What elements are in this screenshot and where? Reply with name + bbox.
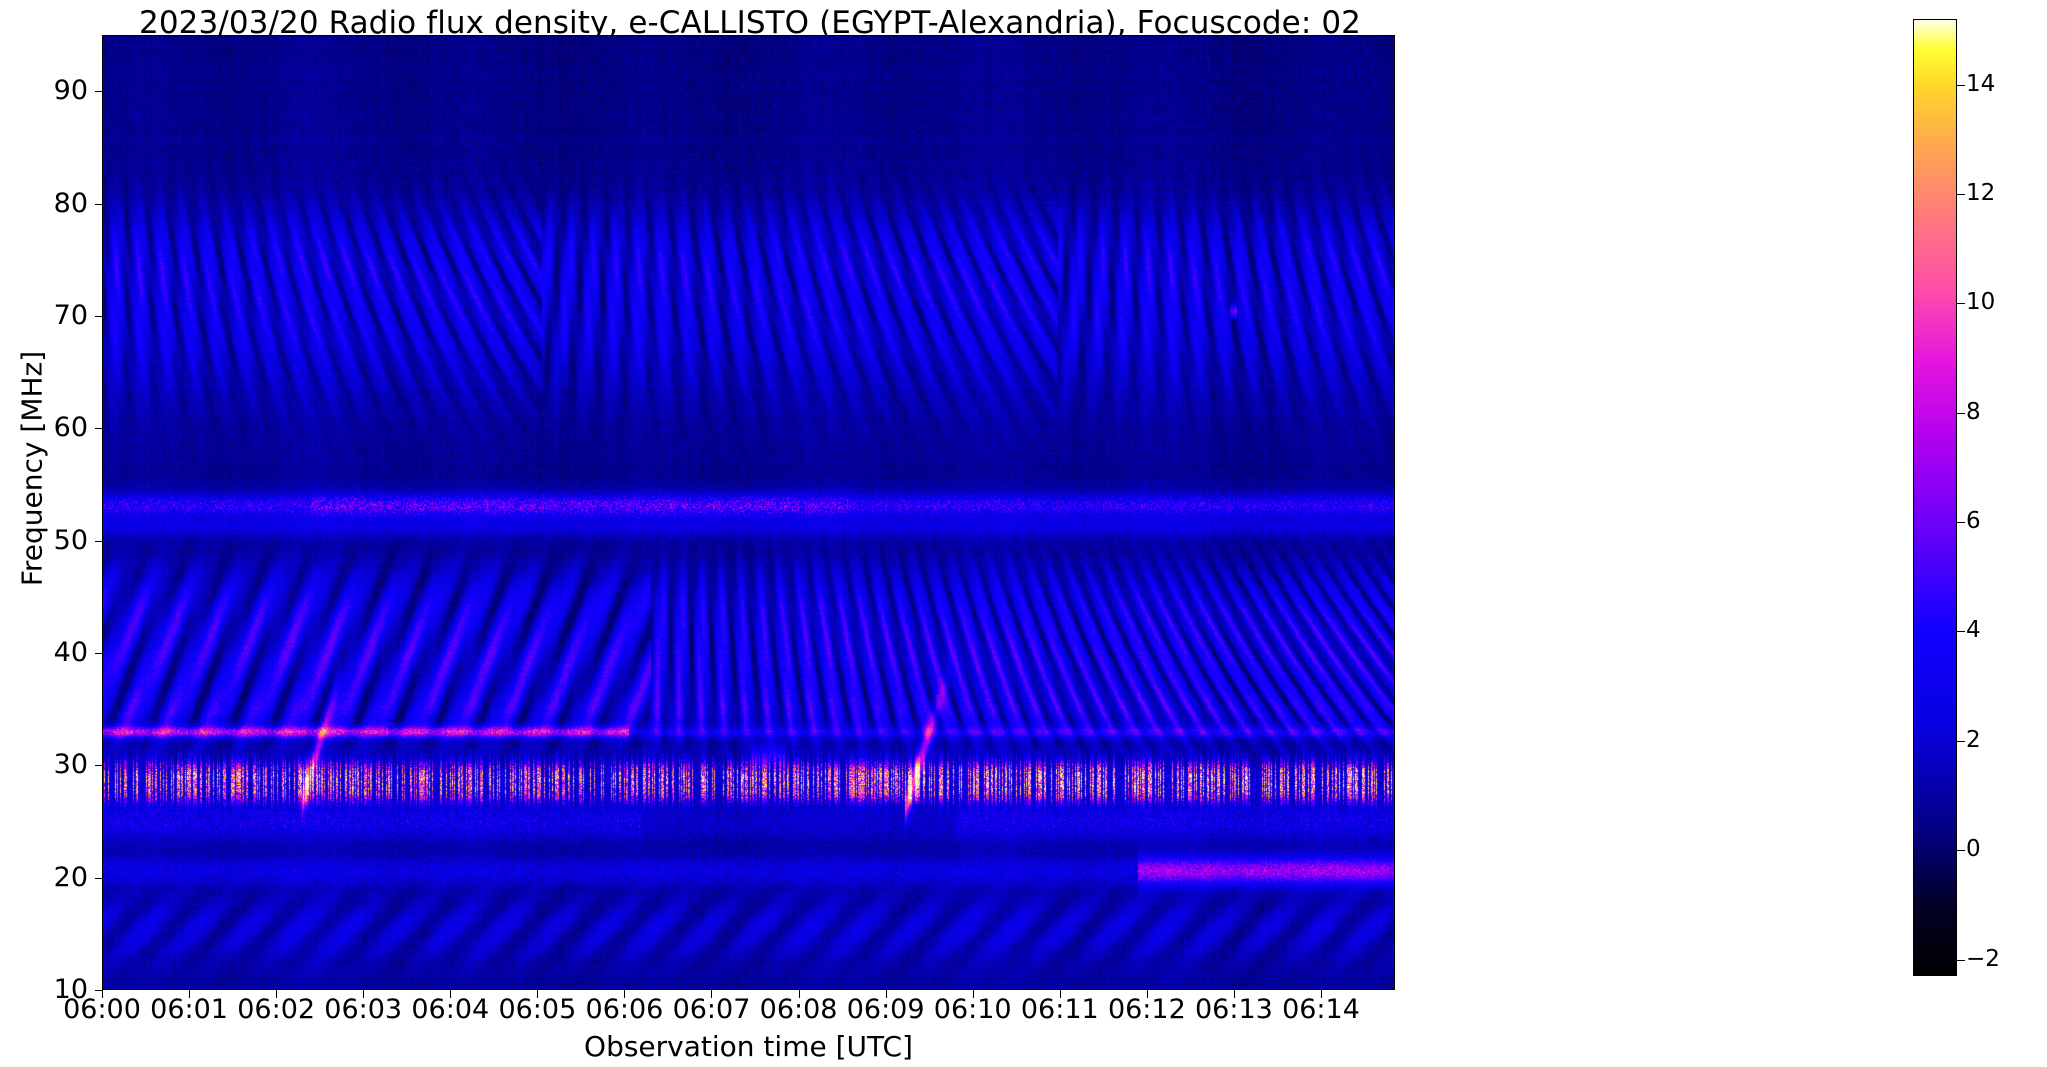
- colorbar-tickmark: [1957, 85, 1965, 86]
- y-axis-tick-40: 40: [54, 639, 88, 666]
- y-axis-tick-20: 20: [54, 864, 88, 891]
- y-axis-tick-90: 90: [54, 77, 88, 104]
- colorbar-tick-8: 8: [1966, 401, 1981, 424]
- x-axis-tick-0610: 06:10: [934, 996, 1012, 1023]
- colorbar-tickmark: [1957, 413, 1965, 414]
- colorbar-tick-4: 4: [1966, 619, 1981, 642]
- y-axis-tick-70: 70: [54, 302, 88, 329]
- colorbar-tickmark: [1957, 850, 1965, 851]
- colorbar-tick-0: 0: [1966, 838, 1981, 861]
- y-axis-tick-30: 30: [54, 751, 88, 778]
- x-axis-tickmark: [1147, 990, 1148, 998]
- y-axis-tickmark: [95, 990, 102, 991]
- y-axis-tickmark: [95, 316, 102, 317]
- x-axis-tick-0604: 06:04: [411, 996, 489, 1023]
- colorbar-tickmark: [1957, 631, 1965, 632]
- colorbar-tick-14: 14: [1966, 73, 1995, 96]
- x-axis-tickmark: [1234, 990, 1235, 998]
- x-axis-tickmark: [189, 990, 190, 998]
- colorbar-tick-10: 10: [1966, 291, 1995, 314]
- x-axis-tick-0605: 06:05: [498, 996, 576, 1023]
- x-axis-tick-0603: 06:03: [324, 996, 402, 1023]
- colorbar-tickmark: [1957, 522, 1965, 523]
- x-axis-tickmark: [711, 990, 712, 998]
- x-axis-tick-0602: 06:02: [237, 996, 315, 1023]
- spectrogram-image: [102, 35, 1395, 990]
- y-axis-tickmark: [95, 541, 102, 542]
- x-axis-tick-0606: 06:06: [586, 996, 664, 1023]
- x-axis-title: Observation time [UTC]: [102, 1030, 1395, 1063]
- y-axis-title: Frequency [MHz]: [16, 279, 49, 659]
- x-axis-tickmark: [537, 990, 538, 998]
- colorbar-tickmark: [1957, 303, 1965, 304]
- colorbar[interactable]: [1913, 19, 1957, 976]
- y-axis-tickmark: [95, 878, 102, 879]
- spectrogram-plot-area[interactable]: [102, 35, 1395, 990]
- x-axis-tick-0608: 06:08: [760, 996, 838, 1023]
- x-axis-tickmark: [624, 990, 625, 998]
- colorbar-tickmark: [1957, 194, 1965, 195]
- x-axis-tickmark: [450, 990, 451, 998]
- colorbar-box: [1913, 19, 1957, 976]
- colorbar-gradient: [1914, 20, 1956, 975]
- spectrogram-figure: 2023/03/20 Radio flux density, e-CALLIST…: [0, 0, 2047, 1067]
- y-axis-tickmark: [95, 428, 102, 429]
- y-axis-tick-50: 50: [54, 527, 88, 554]
- x-axis-tick-0611: 06:11: [1021, 996, 1099, 1023]
- colorbar-tick-2: 2: [1966, 729, 1981, 752]
- y-axis-tickmark: [95, 91, 102, 92]
- x-axis-tick-0601: 06:01: [150, 996, 228, 1023]
- x-axis-tickmark: [1321, 990, 1322, 998]
- x-axis-tick-0600: 06:00: [63, 996, 141, 1023]
- x-axis-tickmark: [1060, 990, 1061, 998]
- y-axis-tick-80: 80: [54, 190, 88, 217]
- x-axis-tickmark: [973, 990, 974, 998]
- colorbar-tick-6: 6: [1966, 510, 1981, 533]
- x-axis-tickmark: [276, 990, 277, 998]
- y-axis-tick-60: 60: [54, 414, 88, 441]
- x-axis-tick-0609: 06:09: [847, 996, 925, 1023]
- y-axis-tickmark: [95, 204, 102, 205]
- colorbar-tickmark: [1957, 960, 1965, 961]
- x-axis-tick-0607: 06:07: [673, 996, 751, 1023]
- x-axis-tickmark: [102, 990, 103, 998]
- x-axis-tick-0614: 06:14: [1282, 996, 1360, 1023]
- y-axis-tickmark: [95, 653, 102, 654]
- x-axis-tick-0613: 06:13: [1195, 996, 1273, 1023]
- x-axis-tick-0612: 06:12: [1108, 996, 1186, 1023]
- colorbar-tick-12: 12: [1966, 182, 1995, 205]
- y-axis-tickmark: [95, 765, 102, 766]
- x-axis-tickmark: [363, 990, 364, 998]
- colorbar-tickmark: [1957, 741, 1965, 742]
- x-axis-tickmark: [799, 990, 800, 998]
- colorbar-tick--2: −2: [1966, 948, 2000, 971]
- x-axis-tickmark: [886, 990, 887, 998]
